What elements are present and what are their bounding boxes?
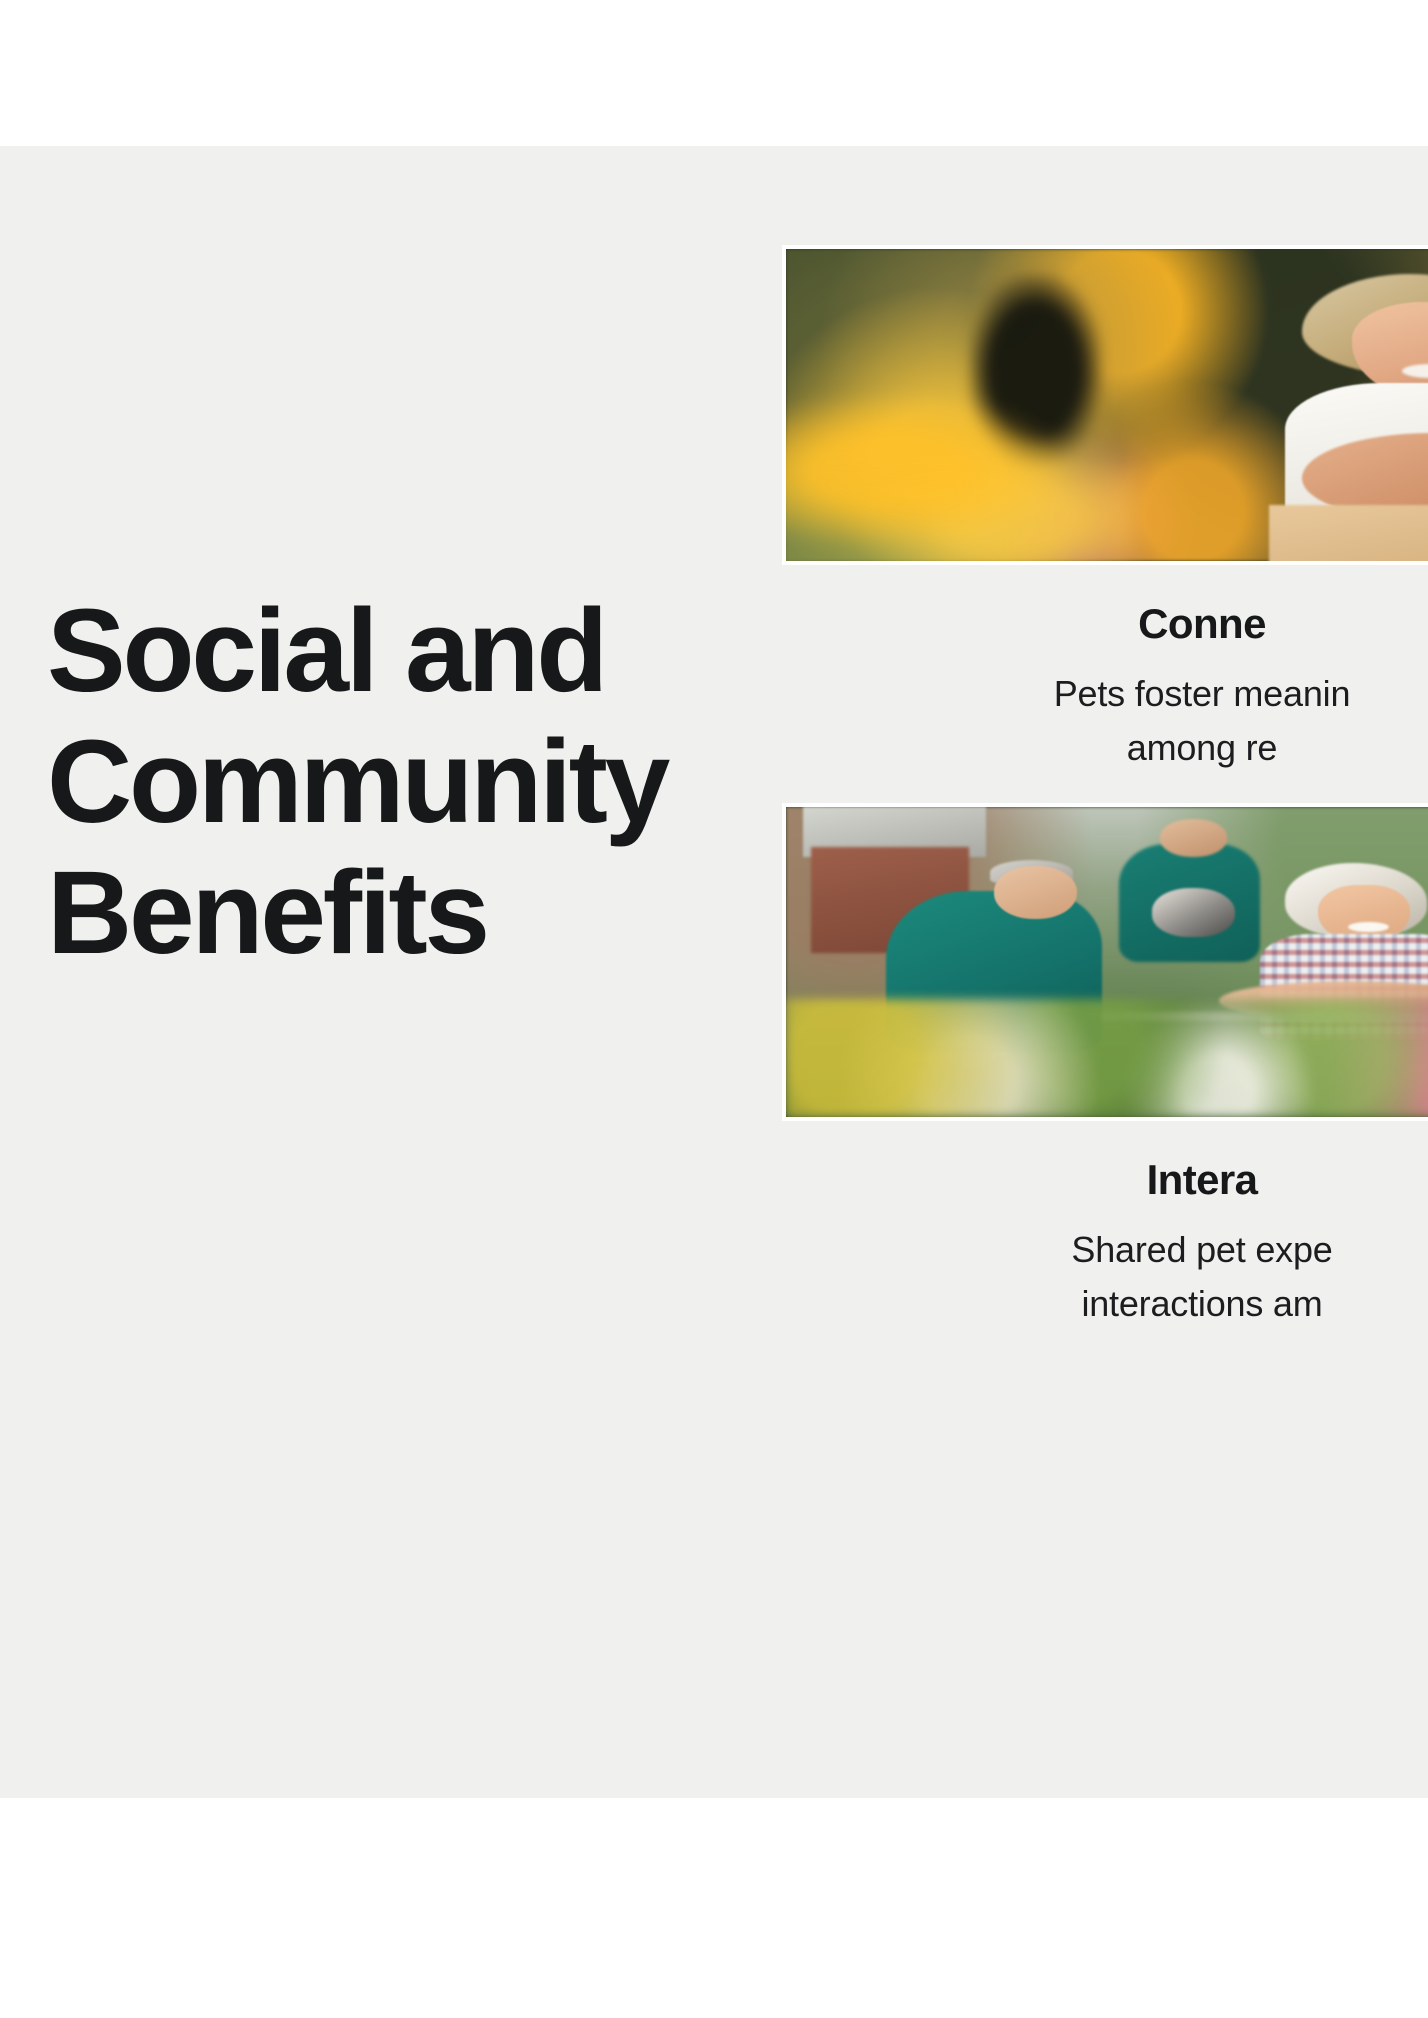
slide-canvas: Social and Community Benefits (0, 146, 1428, 1798)
page-title: Social and Community Benefits (47, 586, 747, 979)
card-body-connection: Pets foster meanin among re (782, 667, 1428, 775)
card-body-interaction: Shared pet expe interactions am (782, 1223, 1428, 1331)
title-block: Social and Community Benefits (47, 586, 747, 979)
card-title-interaction: Intera (782, 1155, 1428, 1205)
slide-page: Social and Community Benefits (0, 0, 1428, 2018)
benefit-card-connection[interactable]: Conne Pets foster meanin among re (782, 245, 1428, 775)
cards-column: Conne Pets foster meanin among re (782, 245, 1428, 1359)
benefit-card-interaction[interactable]: Intera Shared pet expe interactions am (782, 803, 1428, 1331)
card-photo-connection (782, 245, 1428, 565)
card-photo-interaction (782, 803, 1428, 1121)
card-title-connection: Conne (782, 599, 1428, 649)
